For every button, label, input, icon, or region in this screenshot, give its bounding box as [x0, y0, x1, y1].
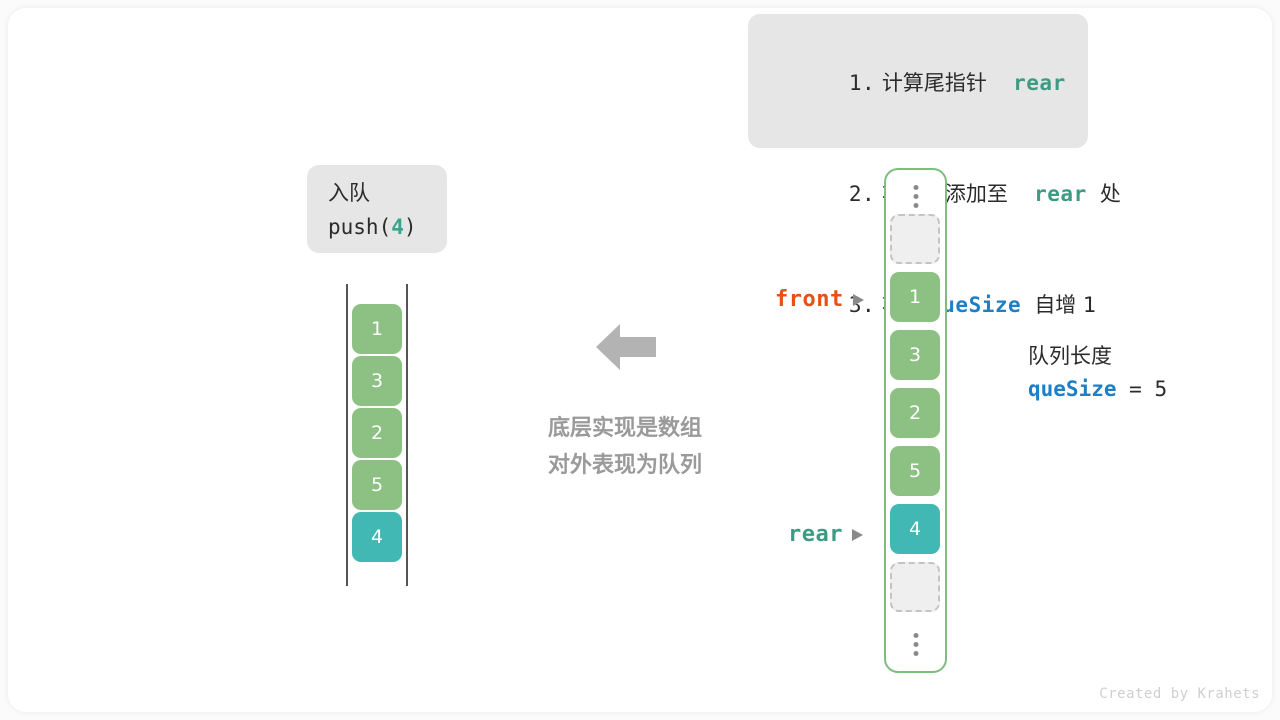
arrow-right-icon [853, 294, 864, 306]
push-call-value: 4 [391, 215, 404, 239]
caption-line-2: 对外表现为队列 [519, 447, 731, 484]
array-cell: 5 [890, 446, 940, 496]
queue-size-note: 队列长度 queSize = 5 [1028, 340, 1167, 406]
queue-cell-highlighted: 4 [352, 512, 402, 562]
rear-pointer-label: rear [788, 522, 843, 547]
array-cell: 3 [890, 330, 940, 380]
rear-pointer: rear [788, 522, 863, 547]
queue-cell-list: 1 3 2 5 4 [352, 304, 402, 562]
array-cell-highlighted: 4 [890, 504, 940, 554]
array-cell-list: 1 3 2 5 4 [890, 214, 940, 612]
front-pointer: front [775, 287, 864, 312]
quesize-equals: = [1117, 377, 1155, 401]
array-cell: 2 [890, 388, 940, 438]
array-underlying-view: 1 3 2 5 4 [884, 168, 947, 673]
queue-cell: 1 [352, 304, 402, 354]
queue-rail-right [406, 284, 408, 586]
arrow-right-icon [852, 529, 863, 541]
instruction-box: 1. 计算尾指针 rear 2. 将元素添加至 rear 处 3. 将 queS… [748, 14, 1088, 148]
front-pointer-label: front [775, 287, 844, 312]
instruction-2-text-after: 处 [1100, 182, 1121, 206]
queue-cell: 3 [352, 356, 402, 406]
diagram-canvas: 1. 计算尾指针 rear 2. 将元素添加至 rear 处 3. 将 queS… [0, 0, 1280, 720]
push-call-prefix: push( [328, 215, 391, 239]
caption-line-1: 底层实现是数组 [519, 410, 731, 447]
queue-cell: 5 [352, 460, 402, 510]
push-box-title: 入队 [328, 176, 447, 210]
array-cell-empty [890, 214, 940, 264]
diagram-caption: 底层实现是数组 对外表现为队列 [519, 410, 731, 484]
array-cell: 1 [890, 272, 940, 322]
top-ellipsis-icon [913, 185, 918, 208]
queue-abstraction-view: 1 3 2 5 4 [345, 284, 409, 586]
instruction-2-index: 2. [849, 182, 875, 206]
bottom-ellipsis-icon [913, 633, 918, 656]
queue-rail-left [346, 284, 348, 586]
instruction-2-keyword: rear [1034, 182, 1087, 206]
queue-size-expression: queSize = 5 [1028, 373, 1167, 406]
queue-cell: 2 [352, 408, 402, 458]
push-operation-box: 入队 push(4) [307, 165, 447, 253]
instruction-1-index: 1. [849, 71, 875, 95]
push-call-suffix: ) [404, 215, 417, 239]
instruction-3-text-after: 自增 1 [1034, 293, 1096, 317]
instruction-1-text-before: 计算尾指针 [882, 71, 987, 95]
quesize-value: 5 [1154, 377, 1167, 401]
left-arrow-icon [594, 320, 658, 374]
quesize-var-name: queSize [1028, 377, 1117, 401]
push-box-call: push(4) [328, 210, 447, 244]
array-cell-empty [890, 562, 940, 612]
instruction-line-1: 1. 计算尾指针 rear [770, 28, 1088, 139]
queue-size-title: 队列长度 [1028, 340, 1167, 373]
instruction-1-keyword: rear [1013, 71, 1066, 95]
watermark-credit: Created by Krahets [1099, 686, 1260, 702]
